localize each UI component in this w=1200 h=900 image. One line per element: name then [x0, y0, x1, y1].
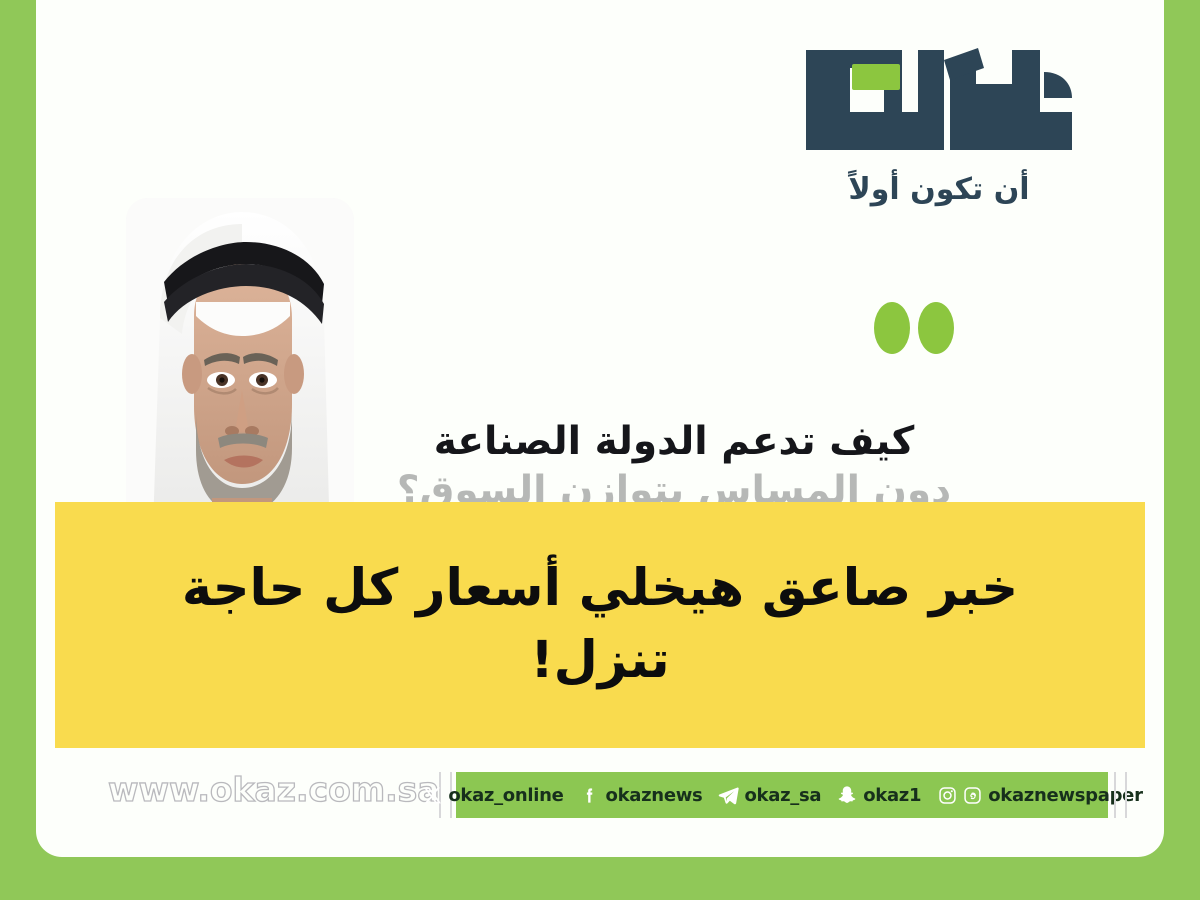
instagram-icon [936, 784, 958, 806]
social-link-snapchat[interactable]: okaz1 [836, 784, 921, 806]
social-link-x[interactable]: okaz_online [421, 784, 563, 806]
social-handle: okaz1 [863, 785, 921, 806]
facebook-icon [579, 784, 601, 806]
quote-marks-icon [874, 302, 954, 354]
instagram-threads-icon [936, 784, 983, 806]
content-card: أن تكون أولاً كيف تدعم الدولة الصناعة دو… [36, 0, 1164, 857]
social-link-telegram[interactable]: okaz_sa [717, 784, 821, 806]
snapchat-icon [836, 784, 858, 806]
banner-headline: خبر صاعق هيخلي أسعار كل حاجة تنزل! [100, 553, 1100, 698]
headline-line-1: كيف تدعم الدولة الصناعة [294, 418, 1054, 467]
yellow-banner: خبر صاعق هيخلي أسعار كل حاجة تنزل! [55, 502, 1145, 748]
social-links-bar: okaz_online okaznews okaz_sa [456, 772, 1108, 818]
threads-icon [961, 784, 983, 806]
social-link-facebook[interactable]: okaznews [579, 784, 703, 806]
quote-dot-left [874, 302, 910, 354]
footer-divider-right [1114, 772, 1127, 818]
okaz-wordmark-icon [800, 42, 1078, 170]
telegram-icon [717, 784, 739, 806]
website-url[interactable]: www.okaz.com.sa [108, 770, 440, 809]
okaz-logo[interactable]: أن تكون أولاً [778, 42, 1078, 207]
social-link-instagram-threads[interactable]: okaznewspaper [936, 784, 1142, 806]
okaz-tagline: أن تكون أولاً [778, 172, 1078, 207]
social-handle: okaznews [606, 785, 703, 806]
article-headline: كيف تدعم الدولة الصناعة دون المساس بتواز… [234, 418, 1054, 516]
social-handle: okaz_online [448, 785, 563, 806]
x-twitter-icon [421, 784, 443, 806]
social-handle: okaz_sa [744, 785, 821, 806]
footer-bar: www.okaz.com.sa okaz_online okaznews [36, 760, 1164, 830]
quote-dot-right [918, 302, 954, 354]
poster-canvas: أن تكون أولاً كيف تدعم الدولة الصناعة دو… [0, 0, 1200, 900]
